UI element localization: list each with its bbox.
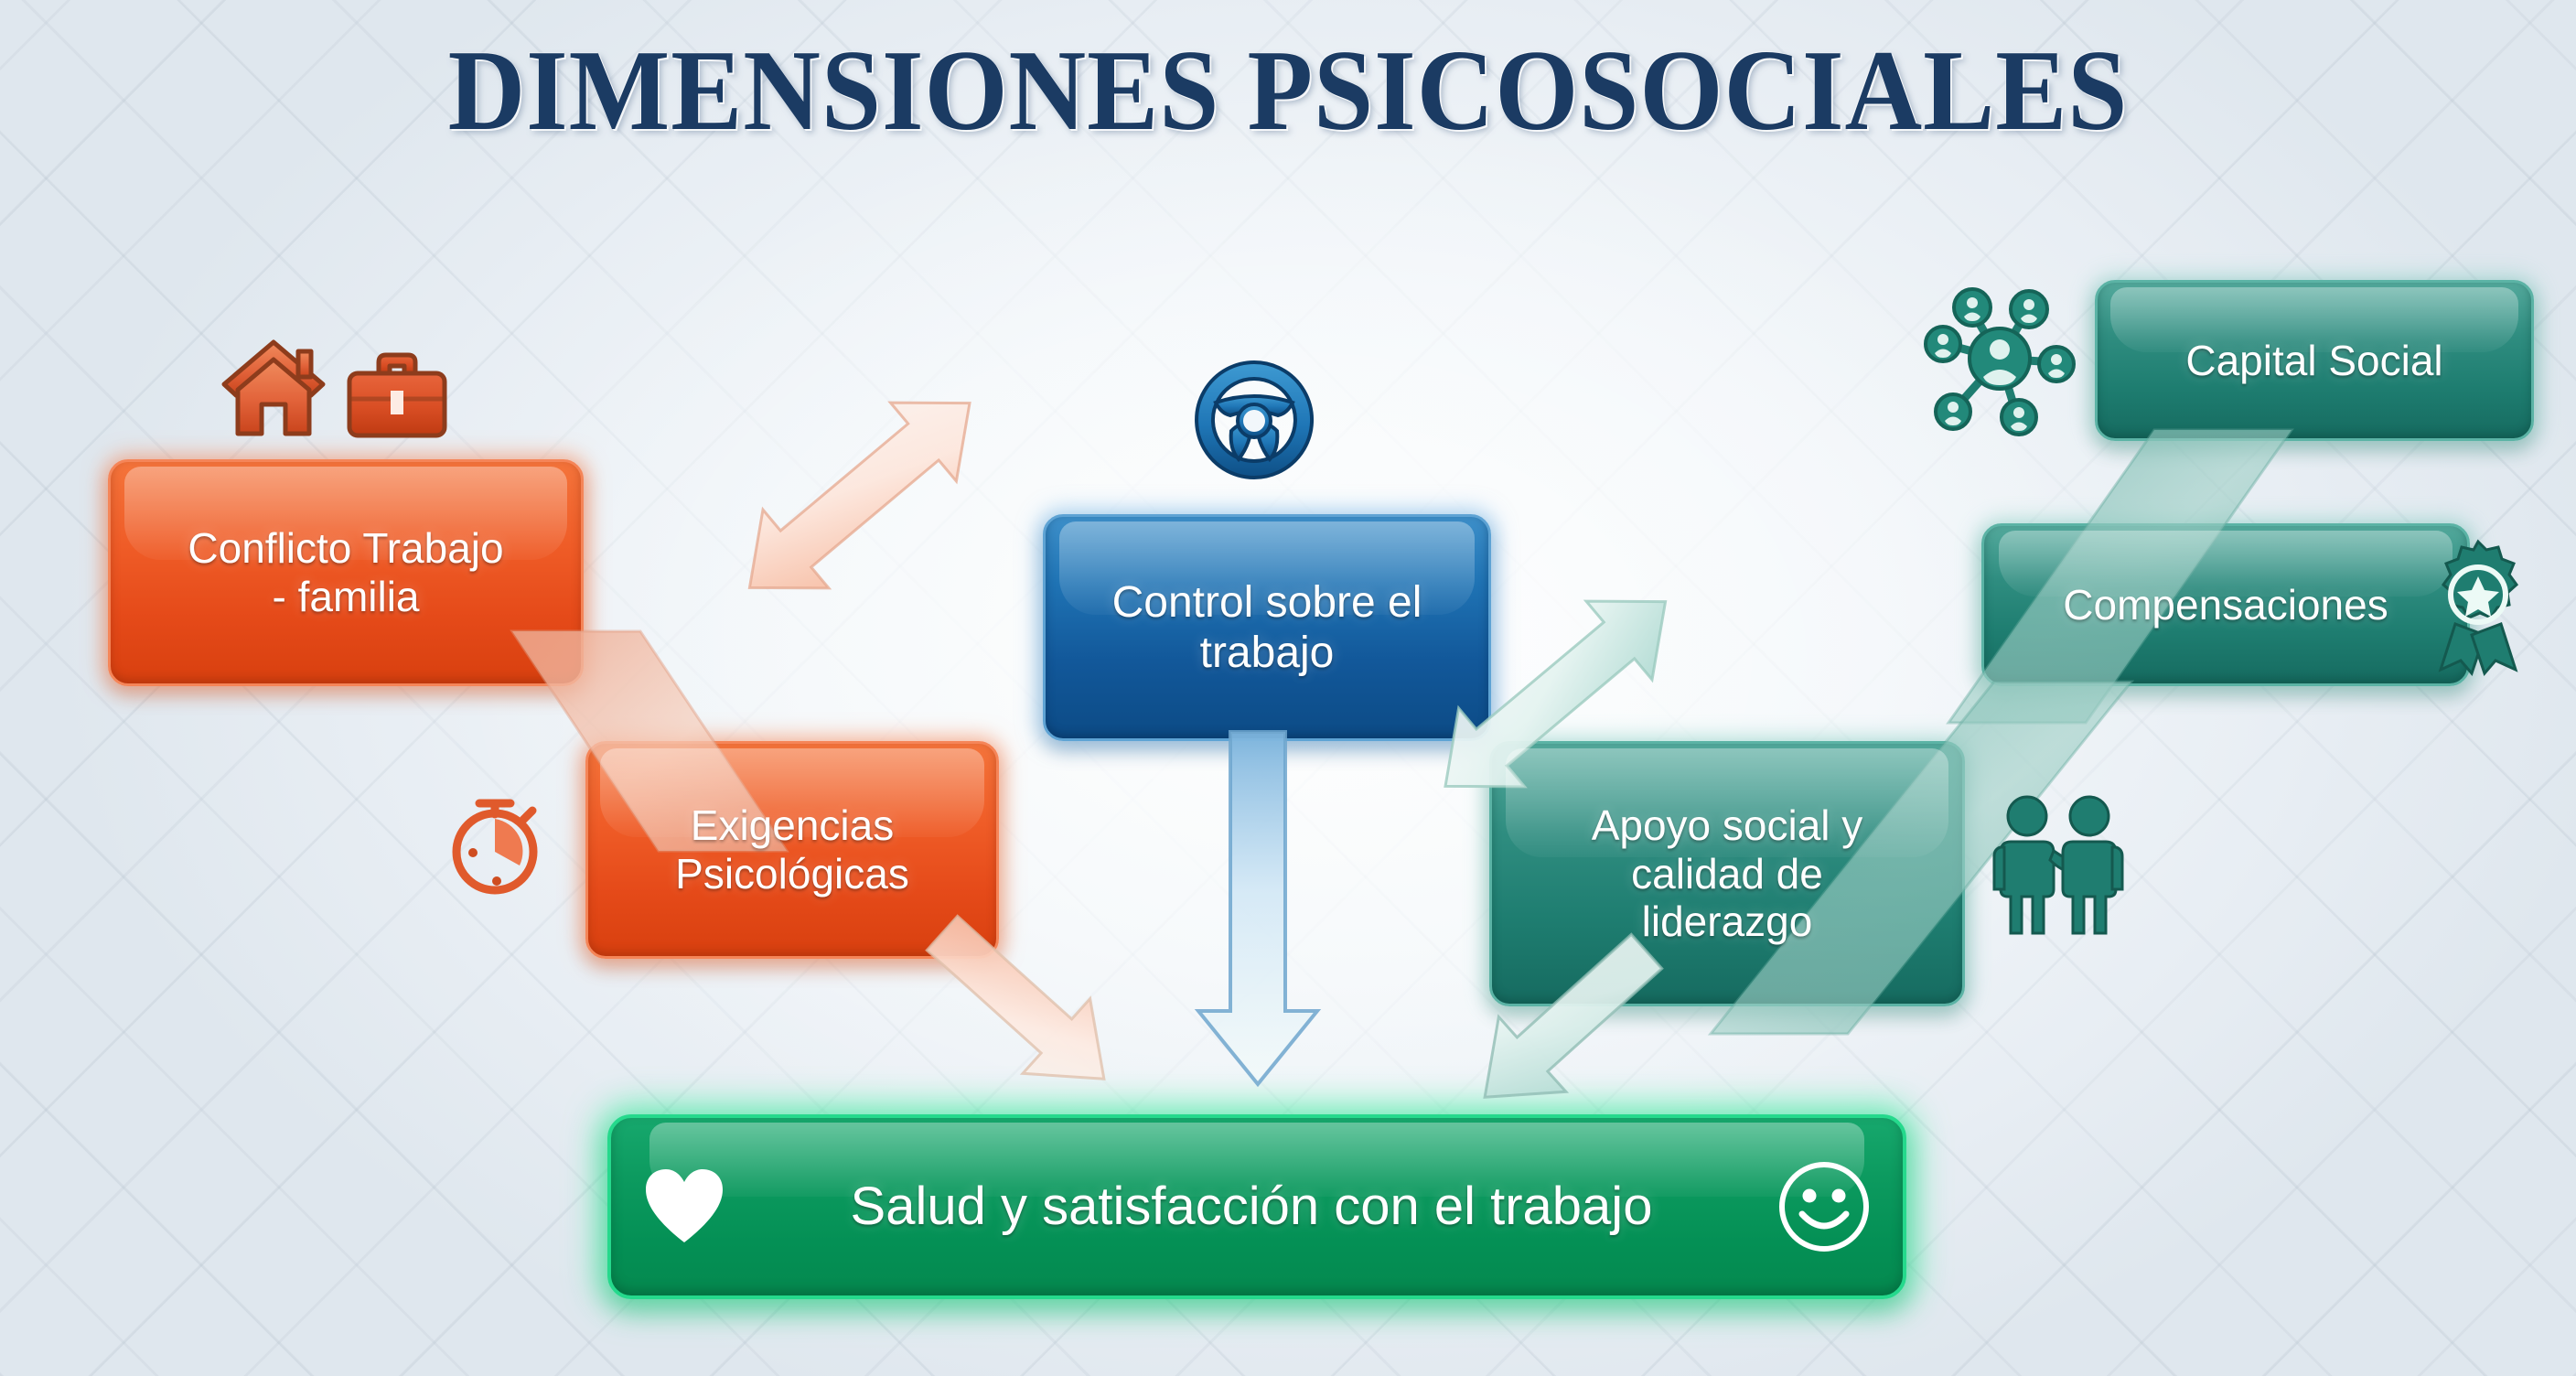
- node-compensaciones[interactable]: Compensaciones: [1981, 523, 2470, 686]
- node-label: Control sobre el trabajo: [1096, 577, 1439, 678]
- node-exigencias-psicologicas[interactable]: Exigencias Psicológicas: [585, 741, 999, 959]
- stopwatch-icon: [445, 789, 545, 897]
- node-capital-social[interactable]: Capital Social: [2095, 280, 2534, 441]
- briefcase-icon: [346, 349, 448, 441]
- diagram-canvas: DIMENSIONES PSICOSOCIALES: [0, 0, 2576, 1376]
- home-icon: [220, 337, 327, 439]
- steering-wheel-icon: [1189, 359, 1319, 481]
- node-label: Apoyo social y calidad de liderazgo: [1575, 801, 1880, 947]
- arrow-exigencias-control: [716, 364, 1003, 628]
- smiley-face-icon: [1776, 1159, 1872, 1254]
- two-people-icon: [1991, 794, 2126, 941]
- arrow-control-salud: [1198, 732, 1317, 1084]
- network-people-icon: [1928, 280, 2075, 434]
- heart-icon: [642, 1167, 726, 1246]
- node-label: Conflicto Trabajo - familia: [171, 524, 520, 621]
- award-ribbon-icon: [2424, 540, 2532, 675]
- node-conflicto-trabajo-familia[interactable]: Conflicto Trabajo - familia: [108, 459, 584, 686]
- node-label: Compensaciones: [2046, 581, 2404, 629]
- node-salud-satisfaccion[interactable]: Salud y satisfacción con el trabajo: [607, 1114, 1906, 1299]
- node-control-sobre-el-trabajo[interactable]: Control sobre el trabajo: [1043, 514, 1491, 741]
- node-apoyo-social-liderazgo[interactable]: Apoyo social y calidad de liderazgo: [1489, 741, 1965, 1006]
- node-label: Exigencias Psicológicas: [659, 801, 926, 898]
- page-title: DIMENSIONES PSICOSOCIALES: [91, 26, 2486, 157]
- node-label: Salud y satisfacción con el trabajo: [726, 1177, 1776, 1238]
- node-label: Capital Social: [2169, 337, 2459, 385]
